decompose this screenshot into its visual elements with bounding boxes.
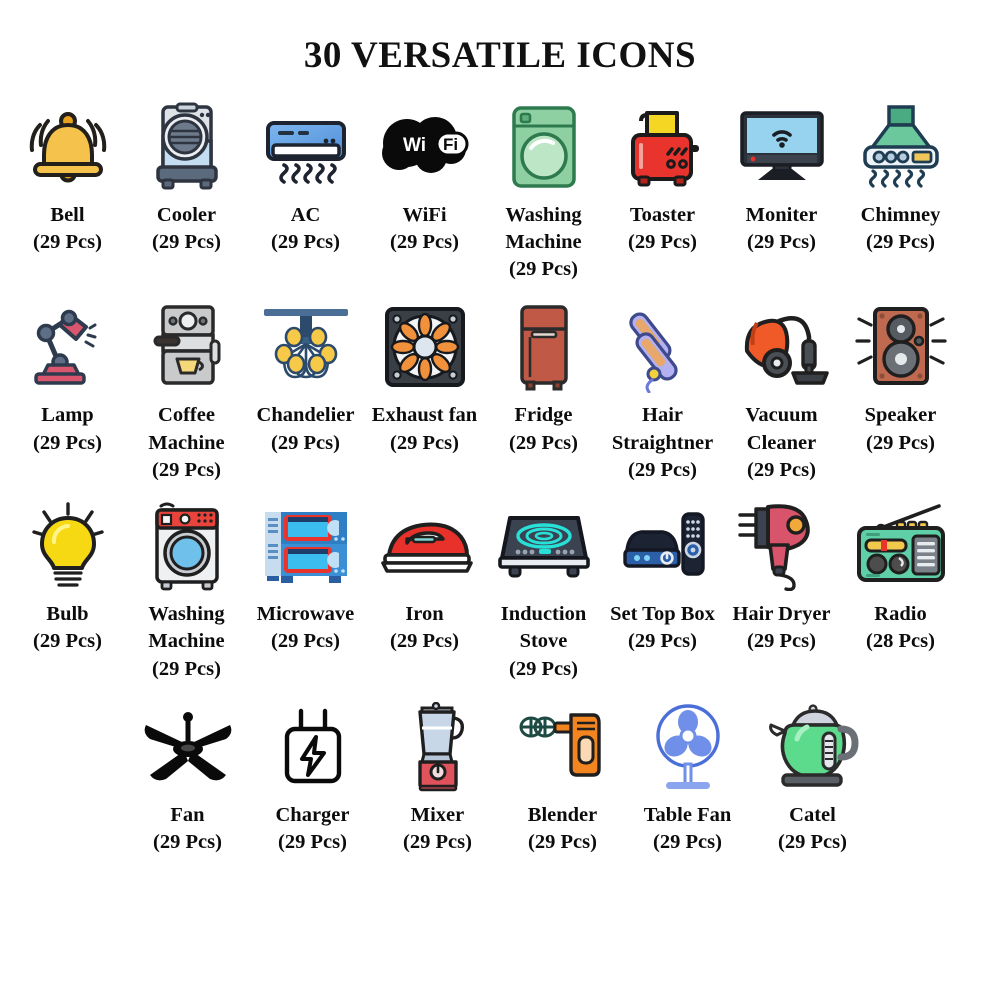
- icon-label: Speaker: [842, 402, 960, 429]
- icon-cell-washing-machine-green[interactable]: Washing Machine (29 Pcs): [484, 99, 603, 284]
- icon-count: (29 Pcs): [723, 628, 841, 655]
- icon-label: Coffee Machine: [128, 402, 246, 457]
- icon-label: Vacuum Cleaner: [723, 402, 841, 457]
- icon-count: (29 Pcs): [366, 430, 484, 457]
- icon-cell-hair-dryer[interactable]: Hair Dryer (29 Pcs): [722, 498, 841, 656]
- icon-cell-chimney[interactable]: Chimney (29 Pcs): [841, 99, 960, 257]
- icon-count: (29 Pcs): [247, 430, 365, 457]
- washing-machine-green-icon: [494, 99, 594, 195]
- wifi-icon: Wi Fi: [375, 99, 475, 195]
- icon-cell-vacuum-cleaner[interactable]: Vacuum Cleaner (29 Pcs): [722, 299, 841, 484]
- icon-count: (29 Pcs): [842, 229, 960, 256]
- icon-cell-washing-machine[interactable]: Washing Machine (29 Pcs): [127, 498, 246, 683]
- cooler-icon: [137, 99, 237, 195]
- icon-label: Fan: [129, 802, 247, 829]
- icon-cell-fridge[interactable]: Fridge (29 Pcs): [484, 299, 603, 457]
- icon-cell-cooler[interactable]: Cooler (29 Pcs): [127, 99, 246, 257]
- icon-sheet-page: 30 VERSATILE ICONS Be: [0, 0, 1000, 1000]
- icon-label: Induction Stove: [485, 601, 603, 656]
- icon-label: Mixer: [379, 802, 497, 829]
- toaster-icon: [613, 99, 713, 195]
- icon-label: Washing Machine: [128, 601, 246, 656]
- icon-label: Iron: [366, 601, 484, 628]
- icon-row-3: Bulb (29 Pcs): [8, 498, 992, 683]
- icon-cell-bulb[interactable]: Bulb (29 Pcs): [8, 498, 127, 656]
- icon-label: Chimney: [842, 202, 960, 229]
- fridge-icon: [494, 299, 594, 395]
- icon-cell-lamp[interactable]: Lamp (29 Pcs): [8, 299, 127, 457]
- microwave-icon: [256, 498, 356, 594]
- svg-text:Wi: Wi: [403, 135, 426, 156]
- icon-cell-induction-stove[interactable]: Induction Stove (29 Pcs): [484, 498, 603, 683]
- icon-cell-speaker[interactable]: Speaker (29 Pcs): [841, 299, 960, 457]
- set-top-box-icon: [613, 498, 713, 594]
- icon-cell-coffee-machine[interactable]: Coffee Machine (29 Pcs): [127, 299, 246, 484]
- washing-machine-icon: [137, 498, 237, 594]
- kettle-icon: [763, 699, 863, 795]
- icon-label: Table Fan: [629, 802, 747, 829]
- monitor-icon: [732, 99, 832, 195]
- icon-cell-ac[interactable]: AC (29 Pcs): [246, 99, 365, 257]
- icon-row-4: Fan (29 Pcs) Charger (29 Pcs): [8, 699, 992, 857]
- icon-label: Hair Dryer: [723, 601, 841, 628]
- icon-cell-microwave[interactable]: Microwave (29 Pcs): [246, 498, 365, 656]
- chandelier-icon: [256, 299, 356, 395]
- icon-cell-radio[interactable]: Radio (28 Pcs): [841, 498, 960, 656]
- icon-label: Set Top Box: [604, 601, 722, 628]
- icon-count: (29 Pcs): [128, 457, 246, 484]
- blender-icon: [513, 699, 613, 795]
- icon-label: Washing Machine: [485, 202, 603, 257]
- icon-cell-bell[interactable]: Bell (29 Pcs): [8, 99, 127, 257]
- icon-count: (29 Pcs): [504, 829, 622, 856]
- icon-label: Blender: [504, 802, 622, 829]
- bell-icon: [18, 99, 118, 195]
- icon-count: (28 Pcs): [842, 628, 960, 655]
- icon-count: (29 Pcs): [247, 229, 365, 256]
- icon-count: (29 Pcs): [9, 229, 127, 256]
- icon-count: (29 Pcs): [485, 430, 603, 457]
- bulb-icon: [18, 498, 118, 594]
- icon-label: Bulb: [9, 601, 127, 628]
- icon-count: (29 Pcs): [604, 628, 722, 655]
- icon-count: (29 Pcs): [723, 229, 841, 256]
- icon-cell-blender[interactable]: Blender (29 Pcs): [500, 699, 625, 857]
- charger-icon: [263, 699, 363, 795]
- icon-cell-chandelier[interactable]: Chandelier (29 Pcs): [246, 299, 365, 457]
- icon-count: (29 Pcs): [485, 256, 603, 283]
- icon-count: (29 Pcs): [9, 430, 127, 457]
- icon-label: Chandelier: [247, 402, 365, 429]
- icon-label: Cooler: [128, 202, 246, 229]
- icon-count: (29 Pcs): [9, 628, 127, 655]
- radio-icon: [851, 498, 951, 594]
- icon-label: Moniter: [723, 202, 841, 229]
- icon-label: Microwave: [247, 601, 365, 628]
- icon-cell-mixer[interactable]: Mixer (29 Pcs): [375, 699, 500, 857]
- icon-count: (29 Pcs): [604, 229, 722, 256]
- icon-count: (29 Pcs): [842, 430, 960, 457]
- icon-label: WiFi: [366, 202, 484, 229]
- icon-count: (29 Pcs): [129, 829, 247, 856]
- hair-dryer-icon: [732, 498, 832, 594]
- icon-count: (29 Pcs): [754, 829, 872, 856]
- icon-count: (29 Pcs): [128, 229, 246, 256]
- icon-label: Charger: [254, 802, 372, 829]
- icon-label: Lamp: [9, 402, 127, 429]
- induction-stove-icon: [494, 498, 594, 594]
- page-title: 30 VERSATILE ICONS: [0, 0, 1000, 77]
- icon-count: (29 Pcs): [254, 829, 372, 856]
- exhaust-fan-icon: [375, 299, 475, 395]
- icon-cell-kettle[interactable]: Catel (29 Pcs): [750, 699, 875, 857]
- icon-cell-table-fan[interactable]: Table Fan (29 Pcs): [625, 699, 750, 857]
- table-fan-icon: [638, 699, 738, 795]
- hair-straightener-icon: [613, 299, 713, 395]
- icon-label: Radio: [842, 601, 960, 628]
- icon-label: Bell: [9, 202, 127, 229]
- icon-cell-exhaust-fan[interactable]: Exhaust fan (29 Pcs): [365, 299, 484, 457]
- ac-icon: [256, 99, 356, 195]
- ceiling-fan-icon: [138, 699, 238, 795]
- icon-cell-iron[interactable]: Iron (29 Pcs): [365, 498, 484, 656]
- icon-cell-toaster[interactable]: Toaster (29 Pcs): [603, 99, 722, 257]
- svg-text:Fi: Fi: [443, 135, 458, 154]
- icon-cell-monitor[interactable]: Moniter (29 Pcs): [722, 99, 841, 257]
- icon-count: (29 Pcs): [366, 628, 484, 655]
- icon-count: (29 Pcs): [379, 829, 497, 856]
- icon-count: (29 Pcs): [247, 628, 365, 655]
- icon-label: Catel: [754, 802, 872, 829]
- icon-grid: Bell (29 Pcs): [0, 99, 1000, 857]
- icon-cell-ceiling-fan[interactable]: Fan (29 Pcs): [125, 699, 250, 857]
- iron-icon: [375, 498, 475, 594]
- icon-count: (29 Pcs): [723, 457, 841, 484]
- icon-label: Fridge: [485, 402, 603, 429]
- vacuum-cleaner-icon: [732, 299, 832, 395]
- mixer-icon: [388, 699, 488, 795]
- icon-row-1: Bell (29 Pcs): [8, 99, 992, 284]
- icon-cell-set-top-box[interactable]: Set Top Box (29 Pcs): [603, 498, 722, 656]
- coffee-machine-icon: [137, 299, 237, 395]
- speaker-icon: [851, 299, 951, 395]
- icon-cell-wifi[interactable]: Wi Fi WiFi (29 Pcs): [365, 99, 484, 257]
- icon-count: (29 Pcs): [629, 829, 747, 856]
- icon-cell-hair-straightener[interactable]: Hair Straightner (29 Pcs): [603, 299, 722, 484]
- icon-label: Exhaust fan: [366, 402, 484, 429]
- icon-count: (29 Pcs): [128, 656, 246, 683]
- chimney-icon: [851, 99, 951, 195]
- icon-label: AC: [247, 202, 365, 229]
- icon-count: (29 Pcs): [485, 656, 603, 683]
- icon-label: Toaster: [604, 202, 722, 229]
- icon-count: (29 Pcs): [604, 457, 722, 484]
- lamp-icon: [18, 299, 118, 395]
- icon-label: Hair Straightner: [604, 402, 722, 457]
- icon-cell-charger[interactable]: Charger (29 Pcs): [250, 699, 375, 857]
- icon-count: (29 Pcs): [366, 229, 484, 256]
- icon-row-2: Lamp (29 Pcs): [8, 299, 992, 484]
